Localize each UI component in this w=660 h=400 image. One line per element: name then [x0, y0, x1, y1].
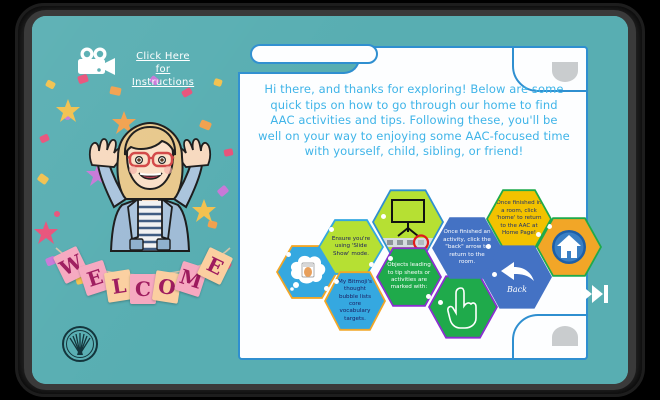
hex-objects-marked-with-label: Objects leading to tip sheets or activit…: [378, 262, 440, 292]
back-arrow-icon: [497, 260, 537, 284]
movie-camera-icon[interactable]: [74, 46, 118, 80]
instructions-line-1: Click Here: [122, 50, 204, 63]
hexagon-tip-map: Ensure you're using 'Slide Show' mode. M…: [268, 188, 598, 356]
slide-page: Click Here for Instructions: [32, 16, 628, 384]
instructions-line-3: Instructions: [122, 76, 204, 89]
hex-home-instruction-label: Once finished in a room, click 'home' to…: [488, 200, 550, 237]
tablet-screen: Click Here for Instructions: [32, 16, 628, 384]
hex-bitmoji-vocabulary-label: My Bitmoji's thought bubble lists core v…: [326, 279, 384, 323]
intro-paragraph: Hi there, and thanks for exploring! Belo…: [258, 82, 570, 160]
instructions-link[interactable]: Click Here for Instructions: [122, 50, 204, 89]
home-icon: [550, 228, 588, 266]
tablet-device: Click Here for Instructions: [0, 0, 660, 400]
school-seal-logo: [62, 326, 98, 362]
hex-pointing-hand-inner: [430, 276, 496, 338]
skip-to-end-button[interactable]: [580, 284, 610, 304]
content-panel: Hi there, and thanks for exploring! Belo…: [238, 46, 588, 360]
hex-presentation-toolbar-inner: [374, 190, 442, 254]
hex-slide-show-mode-label: Ensure you're using 'Slide Show' mode.: [320, 236, 382, 258]
corner-shape-top: [552, 62, 578, 82]
welcome-banner: W E L C O M E: [54, 244, 232, 306]
skip-to-end-icon: [580, 284, 610, 304]
hex-objects-marked-with[interactable]: Objects leading to tip sheets or activit…: [376, 246, 442, 308]
panel-title-pill: [250, 44, 378, 64]
presentation-screen-icon: [378, 194, 438, 250]
pointing-hand-icon: [446, 284, 480, 330]
hex-back-button-label: Back: [507, 285, 527, 294]
instructions-line-2: for: [122, 63, 204, 76]
